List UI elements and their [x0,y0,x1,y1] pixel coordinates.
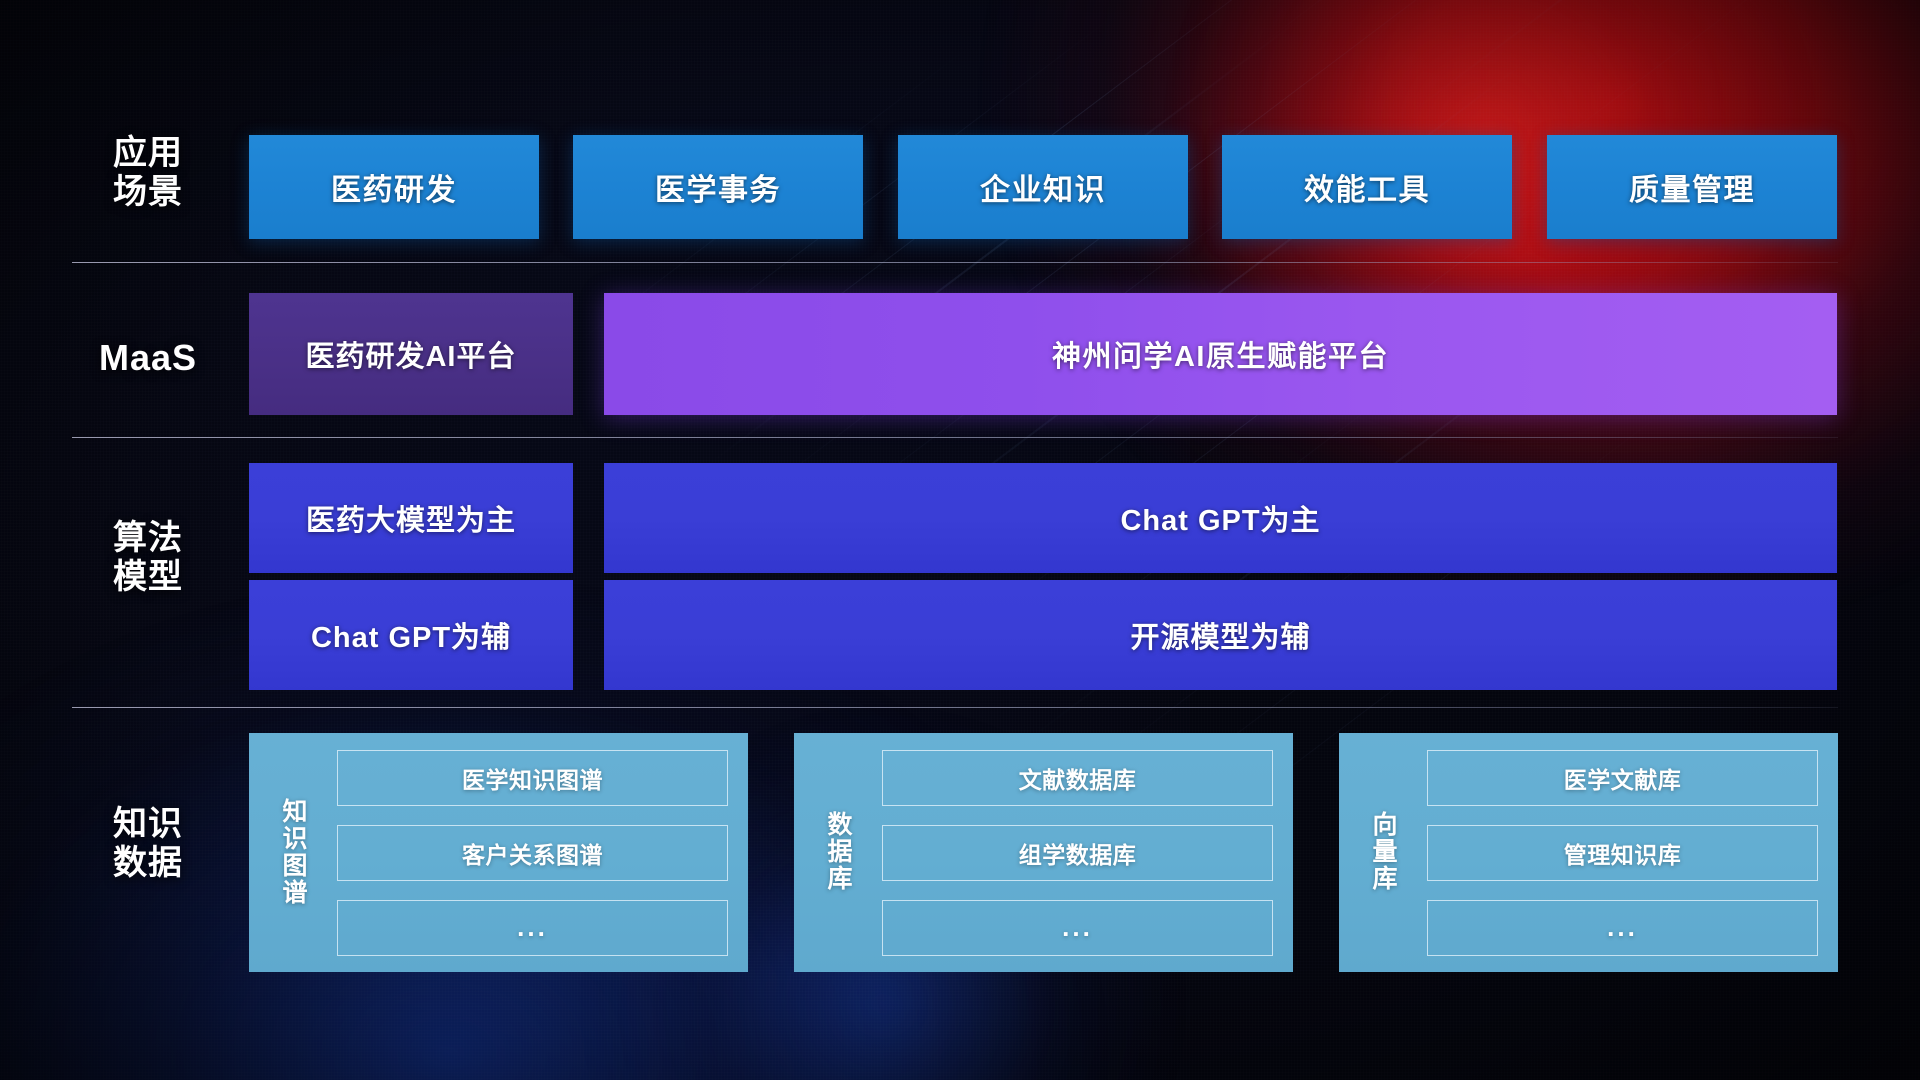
knowledge-item-graph-0-label: 医学知识图谱 [462,761,603,795]
algo-box-chatgpt-secondary[interactable]: Chat GPT为辅 [249,580,573,690]
algo-box-medical-llm-primary-label: 医药大模型为主 [306,497,516,539]
knowledge-item-database-2-label: ... [1062,912,1093,943]
knowledge-panel-database-title: 数 据 库 [816,812,864,893]
maas-box-shenzhou-platform-label: 神州问学AI原生赋能平台 [1052,333,1389,375]
knowledge-item-graph-2[interactable]: ... [337,900,728,956]
divider-3 [72,707,1838,708]
knowledge-item-vector-1-label: 管理知识库 [1564,836,1682,870]
knowledge-item-vector-2[interactable]: ... [1427,900,1818,956]
app-box-1-label: 医学事务 [655,165,781,209]
layer-label-maas: MaaS [72,337,224,379]
app-box-3[interactable]: 效能工具 [1222,135,1512,239]
maas-box-medical-ai-platform[interactable]: 医药研发AI平台 [249,293,573,415]
knowledge-panel-database-items: 文献数据库 组学数据库 ... [882,750,1273,956]
knowledge-panel-vector-title: 向 量 库 [1361,812,1409,893]
knowledge-item-database-2[interactable]: ... [882,900,1273,956]
knowledge-item-database-0[interactable]: 文献数据库 [882,750,1273,806]
knowledge-item-vector-1[interactable]: 管理知识库 [1427,825,1818,881]
app-box-0-label: 医药研发 [331,165,457,209]
knowledge-item-database-1[interactable]: 组学数据库 [882,825,1273,881]
knowledge-panel-vector[interactable]: 向 量 库 医学文献库 管理知识库 ... [1339,733,1838,972]
algo-box-chatgpt-primary[interactable]: Chat GPT为主 [604,463,1837,573]
architecture-diagram: 应用 场景 医药研发 医学事务 企业知识 效能工具 质量管理 MaaS 医药研发… [0,0,1920,1080]
algo-box-medical-llm-primary[interactable]: 医药大模型为主 [249,463,573,573]
app-box-4-label: 质量管理 [1629,165,1755,209]
layer-label-application-scenarios: 应用 场景 [72,134,224,213]
knowledge-panel-graph[interactable]: 知 识 图 谱 医学知识图谱 客户关系图谱 ... [249,733,748,972]
app-box-3-label: 效能工具 [1304,165,1430,209]
knowledge-item-graph-1-label: 客户关系图谱 [462,836,603,870]
app-box-4[interactable]: 质量管理 [1547,135,1837,239]
knowledge-panel-vector-items: 医学文献库 管理知识库 ... [1427,750,1818,956]
knowledge-item-vector-0-label: 医学文献库 [1564,761,1682,795]
knowledge-item-graph-1[interactable]: 客户关系图谱 [337,825,728,881]
algo-box-opensource-secondary-label: 开源模型为辅 [1130,614,1310,656]
knowledge-panel-database[interactable]: 数 据 库 文献数据库 组学数据库 ... [794,733,1293,972]
knowledge-item-graph-2-label: ... [517,912,548,943]
knowledge-item-vector-2-label: ... [1607,912,1638,943]
divider-1 [72,262,1838,263]
knowledge-item-database-0-label: 文献数据库 [1019,761,1137,795]
algo-box-chatgpt-secondary-label: Chat GPT为辅 [311,614,511,656]
maas-box-shenzhou-platform[interactable]: 神州问学AI原生赋能平台 [604,293,1837,415]
app-box-0[interactable]: 医药研发 [249,135,539,239]
knowledge-panel-graph-title: 知 识 图 谱 [271,799,319,907]
divider-2 [72,437,1838,438]
layer-label-algorithm-models: 算法 模型 [72,519,224,598]
knowledge-item-graph-0[interactable]: 医学知识图谱 [337,750,728,806]
layer-label-knowledge-data: 知识 数据 [72,805,224,884]
algo-box-chatgpt-primary-label: Chat GPT为主 [1120,497,1320,539]
maas-box-medical-ai-platform-label: 医药研发AI平台 [305,333,516,375]
knowledge-panel-graph-items: 医学知识图谱 客户关系图谱 ... [337,750,728,956]
algo-box-opensource-secondary[interactable]: 开源模型为辅 [604,580,1837,690]
app-box-2[interactable]: 企业知识 [898,135,1188,239]
knowledge-item-database-1-label: 组学数据库 [1019,836,1137,870]
app-box-2-label: 企业知识 [980,165,1106,209]
knowledge-item-vector-0[interactable]: 医学文献库 [1427,750,1818,806]
app-box-1[interactable]: 医学事务 [573,135,863,239]
